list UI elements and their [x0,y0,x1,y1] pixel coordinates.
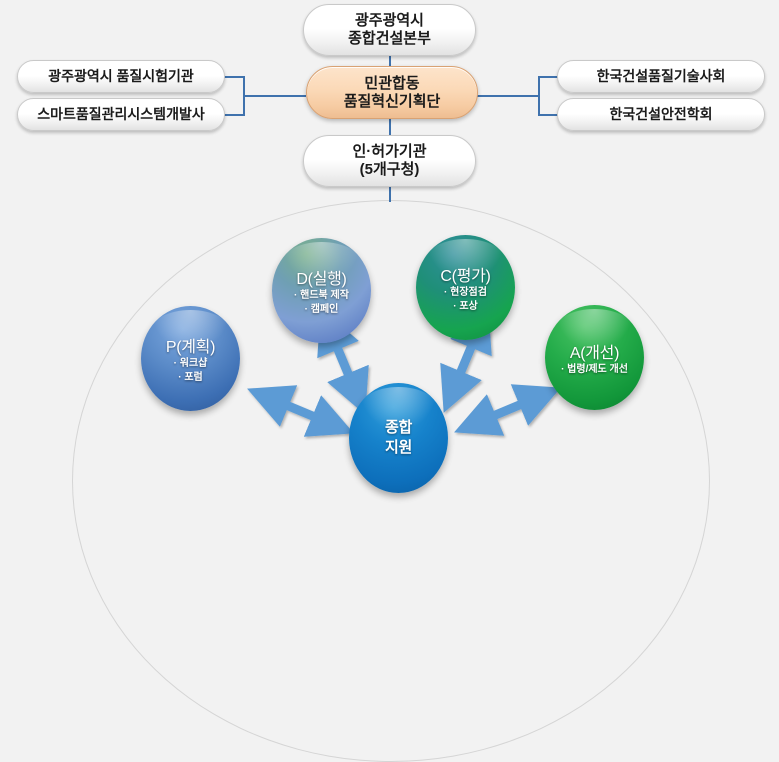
arrow-center-to-a [474,396,541,424]
pdca-circle-center-line2: 지원 [385,438,412,458]
org-node-bottom[interactable]: 인·허가기관 (5개구청) [303,135,476,187]
org-node-right-2[interactable]: 한국건설안전학회 [557,98,765,131]
pdca-circle-a-item-1: · 법령/제도 개선 [561,363,628,377]
org-node-left-1[interactable]: 광주광역시 품질시험기관 [17,60,225,93]
org-node-right-1-label: 한국건설품질기술사회 [597,68,726,85]
org-node-center[interactable]: 민관합동 품질혁신기획단 [306,66,478,119]
org-node-top[interactable]: 광주광역시 종합건설본부 [303,4,476,56]
pdca-circle-a[interactable]: A(개선) · 법령/제도 개선 [545,305,644,410]
arrow-center-to-p [267,397,334,425]
org-node-right-1[interactable]: 한국건설품질기술사회 [557,60,765,93]
org-node-left-2[interactable]: 스마트품질관리시스템개발사 [17,98,225,131]
pdca-circle-d-title: D(실행) [296,265,346,289]
pdca-circle-p-item-2: · 포럼 [178,371,203,385]
org-node-left-1-label: 광주광역시 품질시험기관 [48,68,194,85]
pdca-circle-p[interactable]: P(계획) · 워크샵 · 포럼 [141,306,240,411]
pdca-circle-d-item-1: · 핸드북 제작 [294,289,349,303]
pdca-circle-d-item-2: · 캠페인 [305,303,339,317]
pdca-circle-p-title: P(계획) [166,333,215,357]
pdca-circle-p-item-1: · 워크샵 [174,357,208,371]
org-node-right-2-label: 한국건설안전학회 [609,106,712,123]
org-node-top-line1: 광주광역시 [355,12,424,30]
pdca-circle-center[interactable]: 종합 지원 [349,383,448,493]
pdca-circle-c-item-2: · 포상 [453,300,478,314]
pdca-circle-a-title: A(개선) [570,339,619,363]
pdca-circle-c-title: C(평가) [440,262,490,286]
org-node-left-2-label: 스마트품질관리시스템개발사 [37,106,204,123]
org-node-center-line1: 민관합동 [364,75,419,93]
diagram-canvas: 광주광역시 종합건설본부 민관합동 품질혁신기획단 인·허가기관 (5개구청) … [0,0,779,481]
org-node-bottom-line1: 인·허가기관 [353,143,427,161]
pdca-circle-center-line1: 종합 [385,418,412,438]
org-node-center-line2: 품질혁신기획단 [344,93,441,111]
pdca-circle-c[interactable]: C(평가) · 현장점검 · 포상 [416,235,515,340]
org-node-bottom-line2: (5개구청) [360,161,420,179]
pdca-circle-c-item-1: · 현장점검 [444,286,487,300]
pdca-circle-d[interactable]: D(실행) · 핸드북 제작 · 캠페인 [272,238,371,343]
org-node-top-line2: 종합건설본부 [348,30,431,48]
